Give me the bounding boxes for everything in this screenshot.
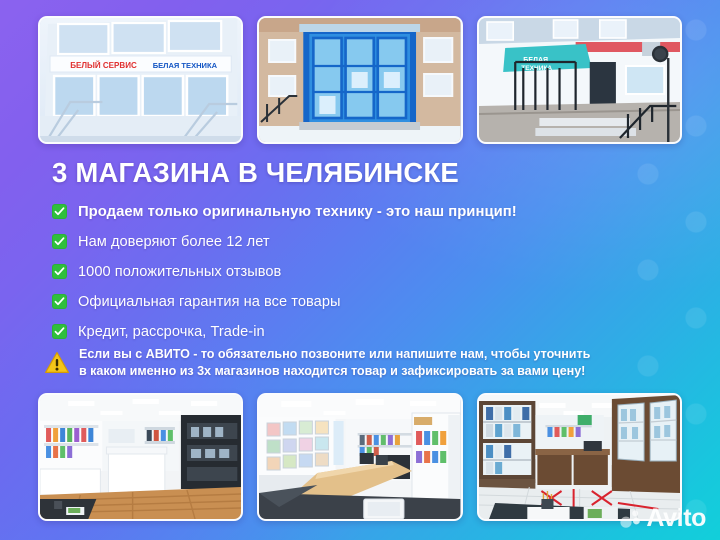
page-title: 3 МАГАЗИНА В ЧЕЛЯБИНСКЕ (52, 157, 459, 189)
warning-line-2: в каком именно из 3х магазинов находится… (79, 363, 590, 380)
list-item: Нам доверяют более 12 лет (52, 227, 672, 256)
list-item: Продаем только оригинальную технику - эт… (52, 197, 672, 226)
warning-text: Если вы с АВИТО - то обязательно позвони… (79, 346, 590, 379)
list-item: Официальная гарантия на все товары (52, 287, 672, 316)
check-icon (52, 204, 67, 219)
benefits-list: Продаем только оригинальную технику - эт… (52, 197, 672, 347)
list-item-label: Официальная гарантия на все товары (78, 294, 341, 310)
list-item-label: Кредит, рассрочка, Trade-in (78, 324, 265, 340)
photo-interior-white-counter[interactable] (38, 393, 243, 521)
warning-banner: Если вы с АВИТО - то обязательно позвони… (44, 346, 682, 379)
list-item-label: 1000 положительных отзывов (78, 264, 281, 280)
warning-line-1: Если вы с АВИТО - то обязательно позвони… (79, 346, 590, 363)
list-item: 1000 положительных отзывов (52, 257, 672, 286)
svg-text:БЕЛЫЙ СЕРВИС: БЕЛЫЙ СЕРВИС (70, 61, 137, 70)
photo-interior-glass-cabinets[interactable] (477, 393, 682, 521)
photo-storefront-blue-entrance[interactable] (257, 16, 462, 144)
photo-row-top: БЕЛЫЙ СЕРВИС БЕЛАЯ ТЕХНИКА (38, 16, 682, 144)
check-icon (52, 234, 67, 249)
list-item-label: Продаем только оригинальную технику - эт… (78, 204, 517, 220)
photo-row-bottom (38, 393, 682, 521)
avito-dot-icon (620, 509, 642, 529)
check-icon (52, 264, 67, 279)
photo-storefront-awning-entrance[interactable]: БЕЛАЯ ТЕХНИКА (477, 16, 682, 144)
check-icon (52, 324, 67, 339)
photo-storefront-white-service-center[interactable]: БЕЛЫЙ СЕРВИС БЕЛАЯ ТЕХНИКА (38, 16, 243, 144)
photo-interior-long-counter[interactable] (257, 393, 462, 521)
avito-wordmark: Avito (646, 506, 706, 531)
promo-card: БЕЛЫЙ СЕРВИС БЕЛАЯ ТЕХНИКА (0, 0, 720, 540)
warning-triangle-icon (44, 350, 70, 376)
list-item-label: Нам доверяют более 12 лет (78, 234, 270, 250)
list-item: Кредит, рассрочка, Trade-in (52, 317, 672, 346)
check-icon (52, 294, 67, 309)
avito-watermark: Avito (620, 506, 706, 531)
svg-text:БЕЛАЯ ТЕХНИКА: БЕЛАЯ ТЕХНИКА (153, 61, 218, 70)
